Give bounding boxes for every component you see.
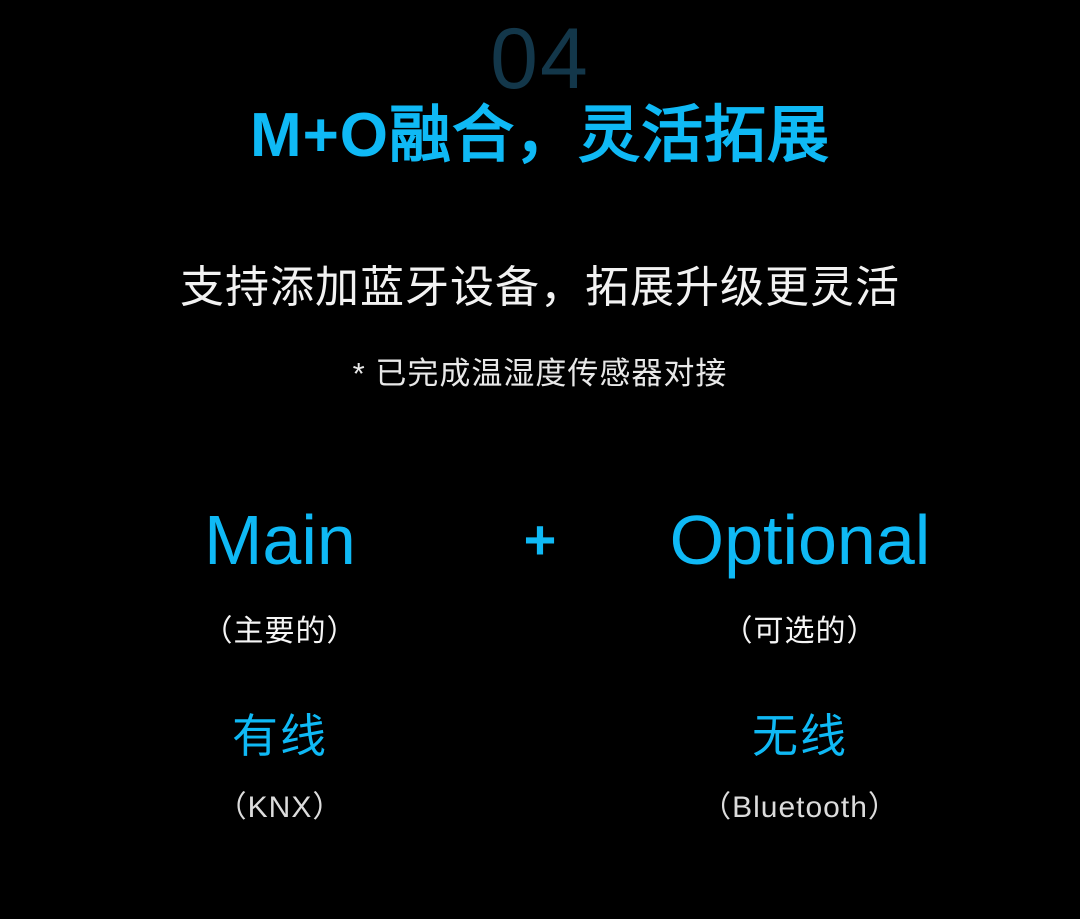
comparison-connection-row: 有线 无线 (0, 713, 1080, 759)
subtitle: 支持添加蓝牙设备，拓展升级更灵活 (0, 262, 1080, 315)
optional-column-title: Optional (590, 505, 1010, 575)
main-column-gloss: （主要的） (70, 617, 490, 647)
optional-column-gloss: （可选的） (590, 617, 1010, 647)
comparison-title-row: Main + Optional (0, 505, 1080, 575)
footnote: * 已完成温湿度传感器对接 (0, 355, 1080, 392)
comparison-protocol-row: （KNX） （Bluetooth） (0, 793, 1080, 823)
main-column-protocol: （KNX） (70, 793, 490, 823)
page-title: M+O融合，灵活拓展 (0, 100, 1080, 171)
comparison-gloss-row: （主要的） （可选的） (0, 617, 1080, 647)
section-number-watermark: 04 (0, 16, 1080, 102)
optional-column-protocol: （Bluetooth） (590, 793, 1010, 823)
optional-column-connection-type: 无线 (590, 713, 1010, 759)
plus-operator-icon: + (524, 508, 557, 571)
comparison-block: Main + Optional （主要的） （可选的） 有线 无线 （KNX） … (0, 505, 1080, 865)
slide-root: 04 M+O融合，灵活拓展 支持添加蓝牙设备，拓展升级更灵活 * 已完成温湿度传… (0, 0, 1080, 919)
main-column-connection-type: 有线 (70, 713, 490, 759)
main-column-title: Main (70, 505, 490, 575)
